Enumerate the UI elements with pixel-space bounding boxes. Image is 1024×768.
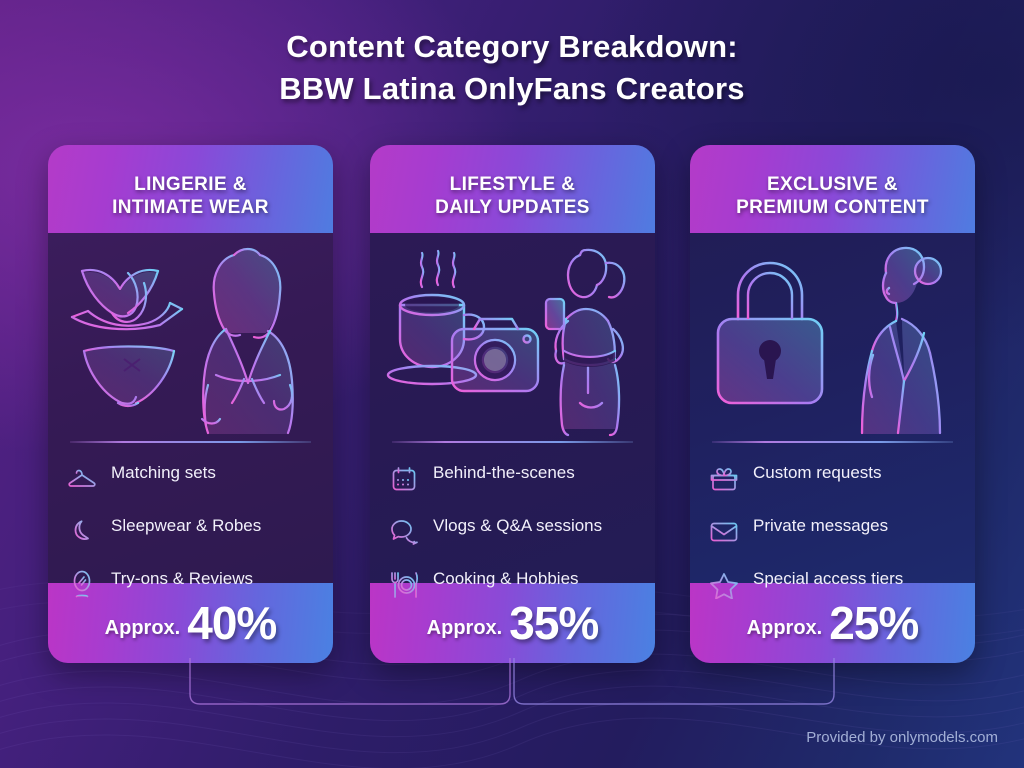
page-title-line-2: BBW Latina OnlyFans Creators <box>0 68 1024 110</box>
list-item-label: Private messages <box>753 514 888 537</box>
illustration-padlock-and-evening-dress-figure <box>690 233 975 438</box>
list-item[interactable]: Custom requests <box>708 461 957 501</box>
category-card-lingerie[interactable]: LINGERIE & INTIMATE WEAR <box>48 145 333 663</box>
moon-icon <box>66 515 98 549</box>
card-heading-line-1: EXCLUSIVE & <box>767 174 898 195</box>
feature-list-lingerie: Matching sets Sleepwear & Robes <box>48 461 333 620</box>
page-title: Content Category Breakdown: BBW Latina O… <box>0 26 1024 110</box>
list-item-label: Cooking & Hobbies <box>433 567 579 590</box>
card-heading-line-1: LIFESTYLE & <box>450 174 576 195</box>
list-item[interactable]: Vlogs & Q&A sessions Behind-the-scenes <box>388 461 637 501</box>
card-body-exclusive: Custom requests Private messages <box>690 233 975 583</box>
list-item-label: Sleepwear & Robes <box>111 514 261 537</box>
card-divider <box>70 441 311 443</box>
attribution-text: Provided by onlymodels.com <box>806 729 998 746</box>
envelope-icon <box>708 515 740 549</box>
card-body-lingerie: Matching sets Sleepwear & Robes <box>48 233 333 583</box>
illustration-coffee-camera-and-phone-figure <box>370 233 655 438</box>
card-body-lifestyle: Vlogs & Q&A sessions Behind-the-scenes <box>370 233 655 583</box>
list-item-label: Matching sets <box>111 461 216 484</box>
list-item[interactable]: Private messages <box>708 514 957 554</box>
card-heading-line-1: LINGERIE & <box>134 174 247 195</box>
list-item[interactable]: Matching sets <box>66 461 315 501</box>
illustration-lingerie-set-and-robed-figure <box>48 233 333 438</box>
list-item[interactable]: Try-ons & Reviews <box>66 567 315 607</box>
list-item[interactable]: Vlogs & Q&A sessions <box>388 514 637 554</box>
card-header-exclusive: EXCLUSIVE & PREMIUM CONTENT <box>690 145 975 233</box>
card-divider <box>392 441 633 443</box>
approx-label: Approx. <box>105 617 181 640</box>
card-heading-line-2: DAILY UPDATES <box>435 197 590 218</box>
chat-bubbles-icon <box>388 515 420 549</box>
list-item[interactable]: Cooking & Hobbies <box>388 567 637 607</box>
category-card-lifestyle[interactable]: LIFESTYLE & DAILY UPDATES <box>370 145 655 663</box>
approx-label: Approx. <box>427 617 503 640</box>
card-header-lifestyle: LIFESTYLE & DAILY UPDATES <box>370 145 655 233</box>
list-item-label: Try-ons & Reviews <box>111 567 253 590</box>
category-card-exclusive[interactable]: EXCLUSIVE & PREMIUM CONTENT <box>690 145 975 663</box>
card-divider <box>712 441 953 443</box>
list-item-label: Behind-the-scenes <box>433 461 575 484</box>
page-title-line-1: Content Category Breakdown: <box>286 29 738 64</box>
list-item-label: Special access tiers <box>753 567 903 590</box>
card-heading-line-2: INTIMATE WEAR <box>112 197 269 218</box>
list-item[interactable]: Special access tiers <box>708 567 957 607</box>
list-item-label: Vlogs & Q&A sessions <box>433 514 602 537</box>
calendar-icon <box>388 462 420 496</box>
list-item-label: Custom requests <box>753 461 882 484</box>
mirror-icon <box>66 568 98 602</box>
list-item[interactable]: Sleepwear & Robes <box>66 514 315 554</box>
hanger-icon <box>66 462 98 496</box>
feature-list-exclusive: Custom requests Private messages <box>690 461 975 620</box>
star-icon <box>708 568 740 602</box>
approx-label: Approx. <box>747 617 823 640</box>
gift-icon <box>708 462 740 496</box>
category-cards-container: LINGERIE & INTIMATE WEAR <box>0 145 1024 665</box>
feature-list-lifestyle: Vlogs & Q&A sessions Behind-the-scenes <box>370 461 655 620</box>
card-header-lingerie: LINGERIE & INTIMATE WEAR <box>48 145 333 233</box>
card-heading-line-2: PREMIUM CONTENT <box>736 197 929 218</box>
cutlery-icon <box>388 568 420 602</box>
card-connector-lines <box>0 658 1024 718</box>
